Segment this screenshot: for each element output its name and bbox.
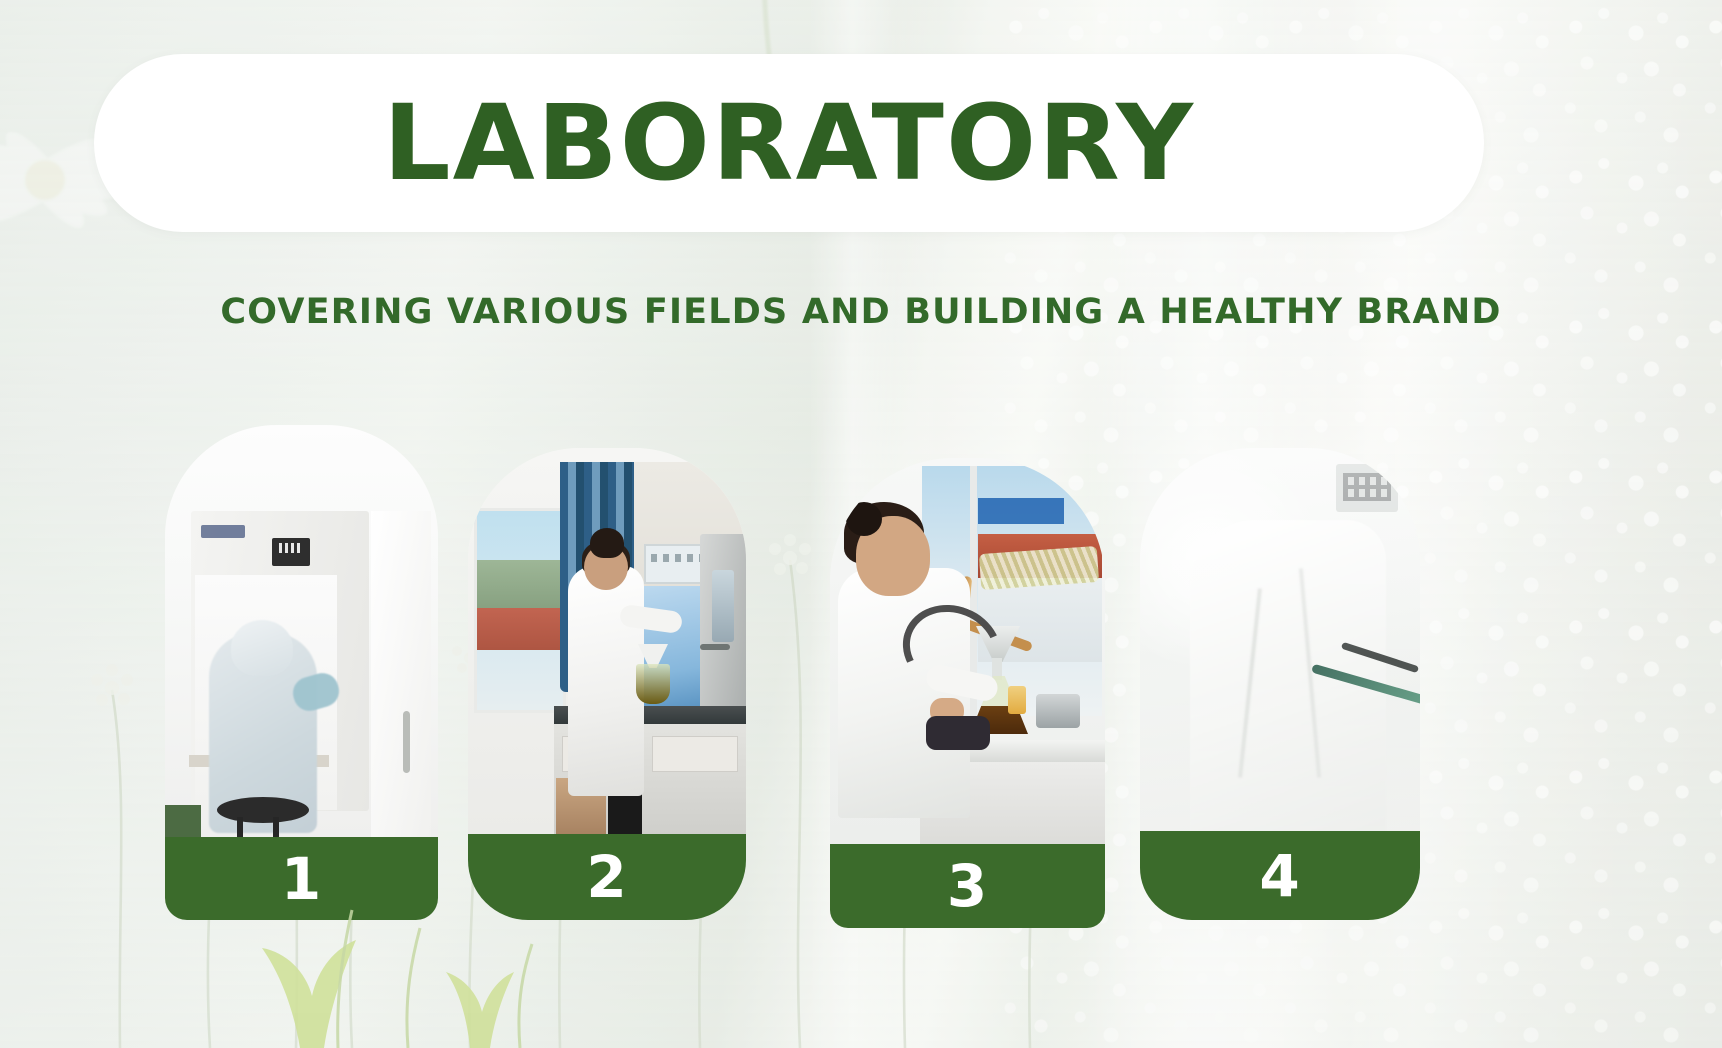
card-4-photo [1140,448,1420,831]
distillation-rig-photo [830,458,1105,844]
card-1-footer: 1 [165,837,438,920]
gallery-card-3[interactable]: 3 [830,458,1105,928]
card-4-footer: 4 [1140,831,1420,920]
card-number: 4 [1259,847,1300,905]
analyzer-operation-photo [468,448,746,834]
photo-gallery: 1 2 [0,0,1722,1048]
cleanroom-bench-photo [165,425,438,837]
card-1-photo [165,425,438,837]
card-number: 3 [947,857,988,915]
card-2-photo [468,448,746,834]
card-number: 1 [281,850,322,908]
gallery-card-4[interactable]: 4 [1140,448,1420,920]
card-2-footer: 2 [468,834,746,920]
card-3-footer: 3 [830,844,1105,928]
gallery-card-1[interactable]: 1 [165,425,438,920]
protective-coverall-photo [1140,448,1420,831]
card-number: 2 [586,848,627,906]
gallery-card-2[interactable]: 2 [468,448,746,920]
card-3-photo [830,458,1105,844]
